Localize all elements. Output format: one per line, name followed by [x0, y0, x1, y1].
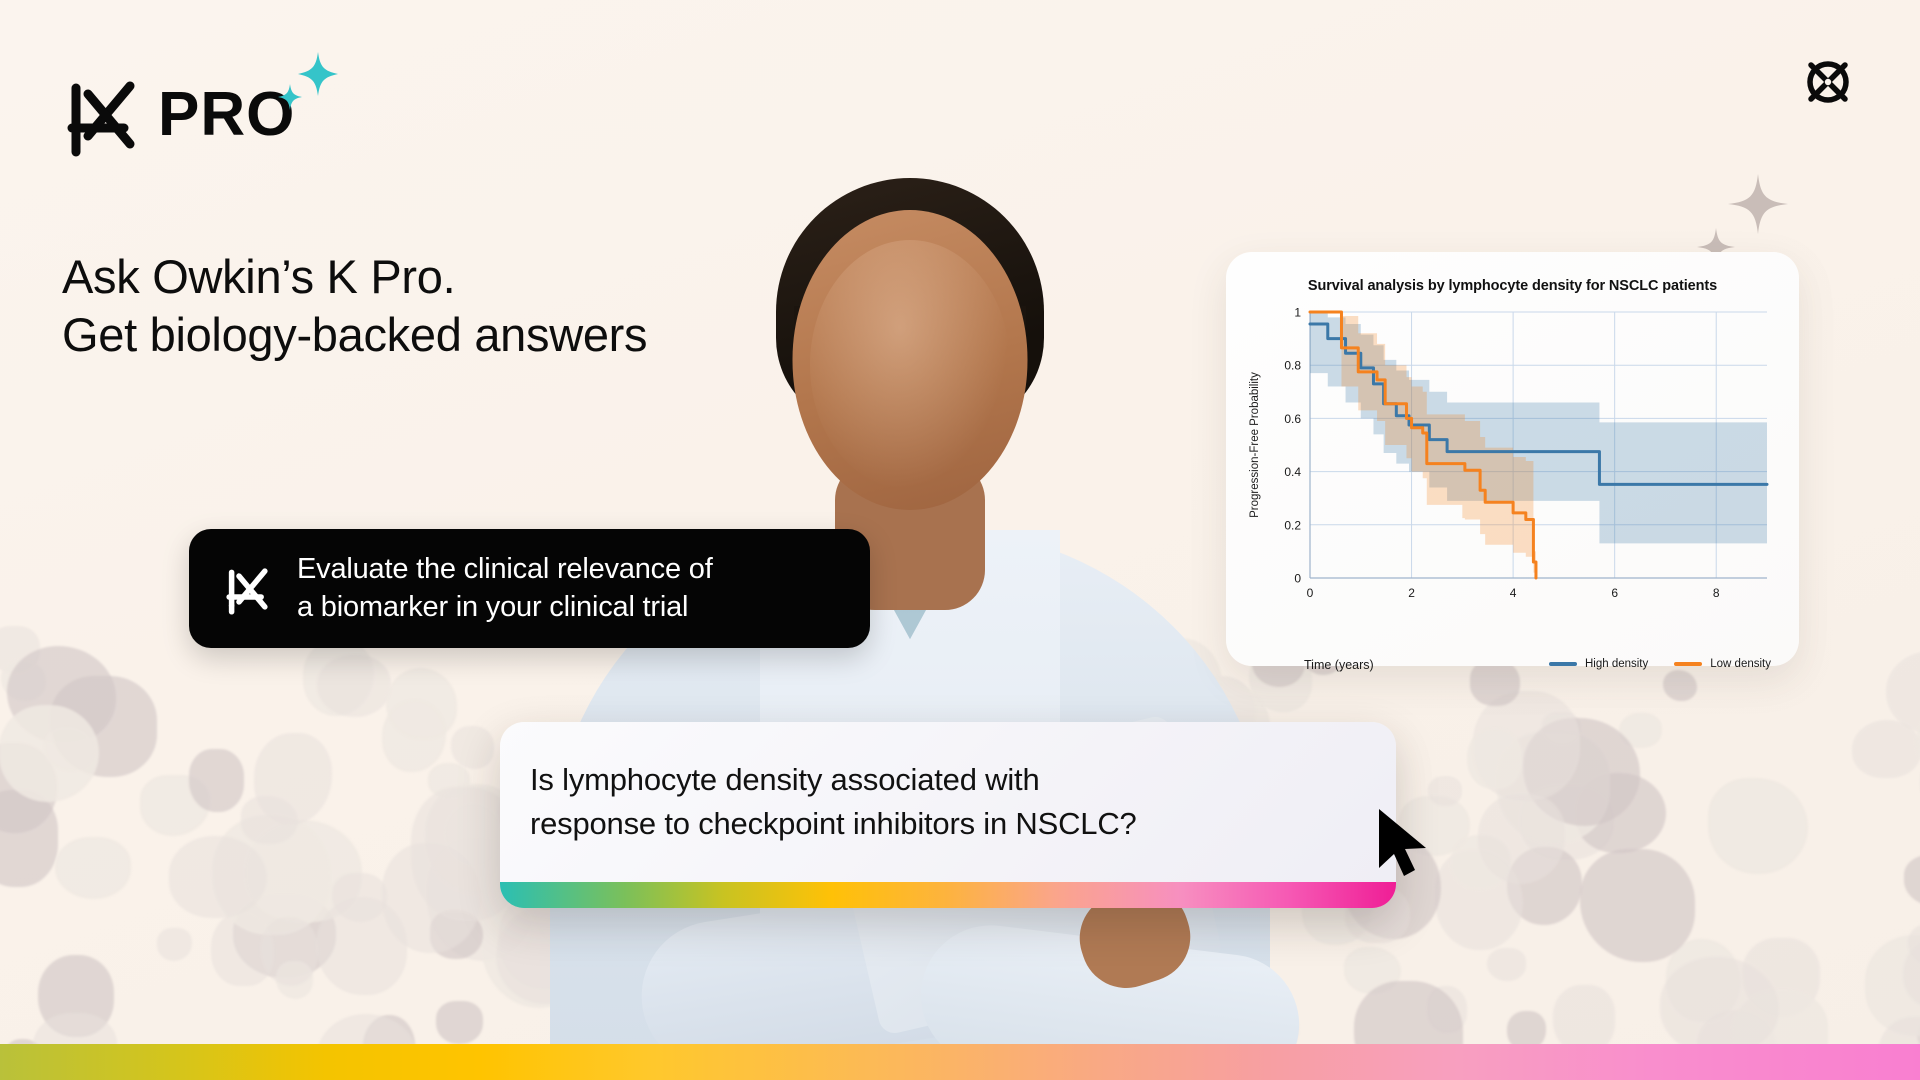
chart-svg: 00.20.40.60.8102468Progression-Free Prob… — [1244, 302, 1781, 624]
mouse-arrow-cursor-icon — [1374, 806, 1434, 880]
legend-label-high-density: High density — [1585, 658, 1648, 670]
svg-text:0: 0 — [1294, 572, 1301, 586]
brand-lockup[interactable]: PRO — [62, 72, 295, 158]
question-line-1: Is lymphocyte density associated with — [530, 758, 1137, 802]
bottom-brand-gradient-bar — [0, 1044, 1920, 1080]
owkin-circle-x-icon[interactable] — [1800, 54, 1856, 110]
headline-line-2: Get biology-backed answers — [62, 306, 647, 364]
question-card[interactable]: Is lymphocyte density associated with re… — [500, 722, 1396, 908]
legend-swatch-low-density — [1674, 662, 1702, 666]
svg-text:0.2: 0.2 — [1284, 518, 1301, 532]
chart-xaxis-label: Time (years) — [1304, 658, 1374, 672]
svg-text:4: 4 — [1510, 586, 1517, 600]
svg-text:2: 2 — [1408, 586, 1415, 600]
svg-text:8: 8 — [1713, 586, 1720, 600]
question-card-body: Is lymphocyte density associated with re… — [500, 722, 1396, 882]
question-card-gradient-bar — [500, 882, 1396, 908]
headline-line-1: Ask Owkin’s K Pro. — [62, 250, 455, 303]
question-text: Is lymphocyte density associated with re… — [530, 758, 1137, 846]
banner-stage: PRO Ask Owkin’s K Pro. Get biology-backe… — [0, 0, 1920, 1080]
k-chromosome-logo-icon — [223, 560, 271, 618]
svg-text:Progression-Free Probability: Progression-Free Probability — [1249, 372, 1261, 518]
legend-label-low-density: Low density — [1710, 658, 1771, 670]
svg-text:1: 1 — [1294, 306, 1301, 320]
chart-legend: High density Low density — [1549, 658, 1771, 670]
page-title: Ask Owkin’s K Pro. Get biology-backed an… — [62, 248, 647, 364]
prompt-pill-line-2: a biomarker in your clinical trial — [297, 589, 713, 627]
chart-title: Survival analysis by lymphocyte density … — [1244, 278, 1781, 294]
svg-text:0: 0 — [1307, 586, 1314, 600]
svg-text:0.8: 0.8 — [1284, 359, 1301, 373]
k-chromosome-logo-icon — [62, 72, 140, 158]
sparkle-icon — [272, 48, 342, 118]
svg-text:0.4: 0.4 — [1284, 465, 1301, 479]
svg-text:0.6: 0.6 — [1284, 412, 1301, 426]
legend-swatch-high-density — [1549, 662, 1577, 666]
chart-plot-area: 00.20.40.60.8102468Progression-Free Prob… — [1244, 302, 1781, 624]
legend-item-low-density: Low density — [1674, 658, 1771, 670]
question-line-2: response to checkpoint inhibitors in NSC… — [530, 802, 1137, 846]
svg-text:6: 6 — [1611, 586, 1618, 600]
prompt-pill-line-1: Evaluate the clinical relevance of — [297, 551, 713, 589]
survival-chart-card[interactable]: Survival analysis by lymphocyte density … — [1226, 252, 1799, 666]
prompt-suggestion-pill[interactable]: Evaluate the clinical relevance of a bio… — [189, 529, 870, 648]
legend-item-high-density: High density — [1549, 658, 1648, 670]
prompt-pill-text: Evaluate the clinical relevance of a bio… — [297, 551, 713, 626]
